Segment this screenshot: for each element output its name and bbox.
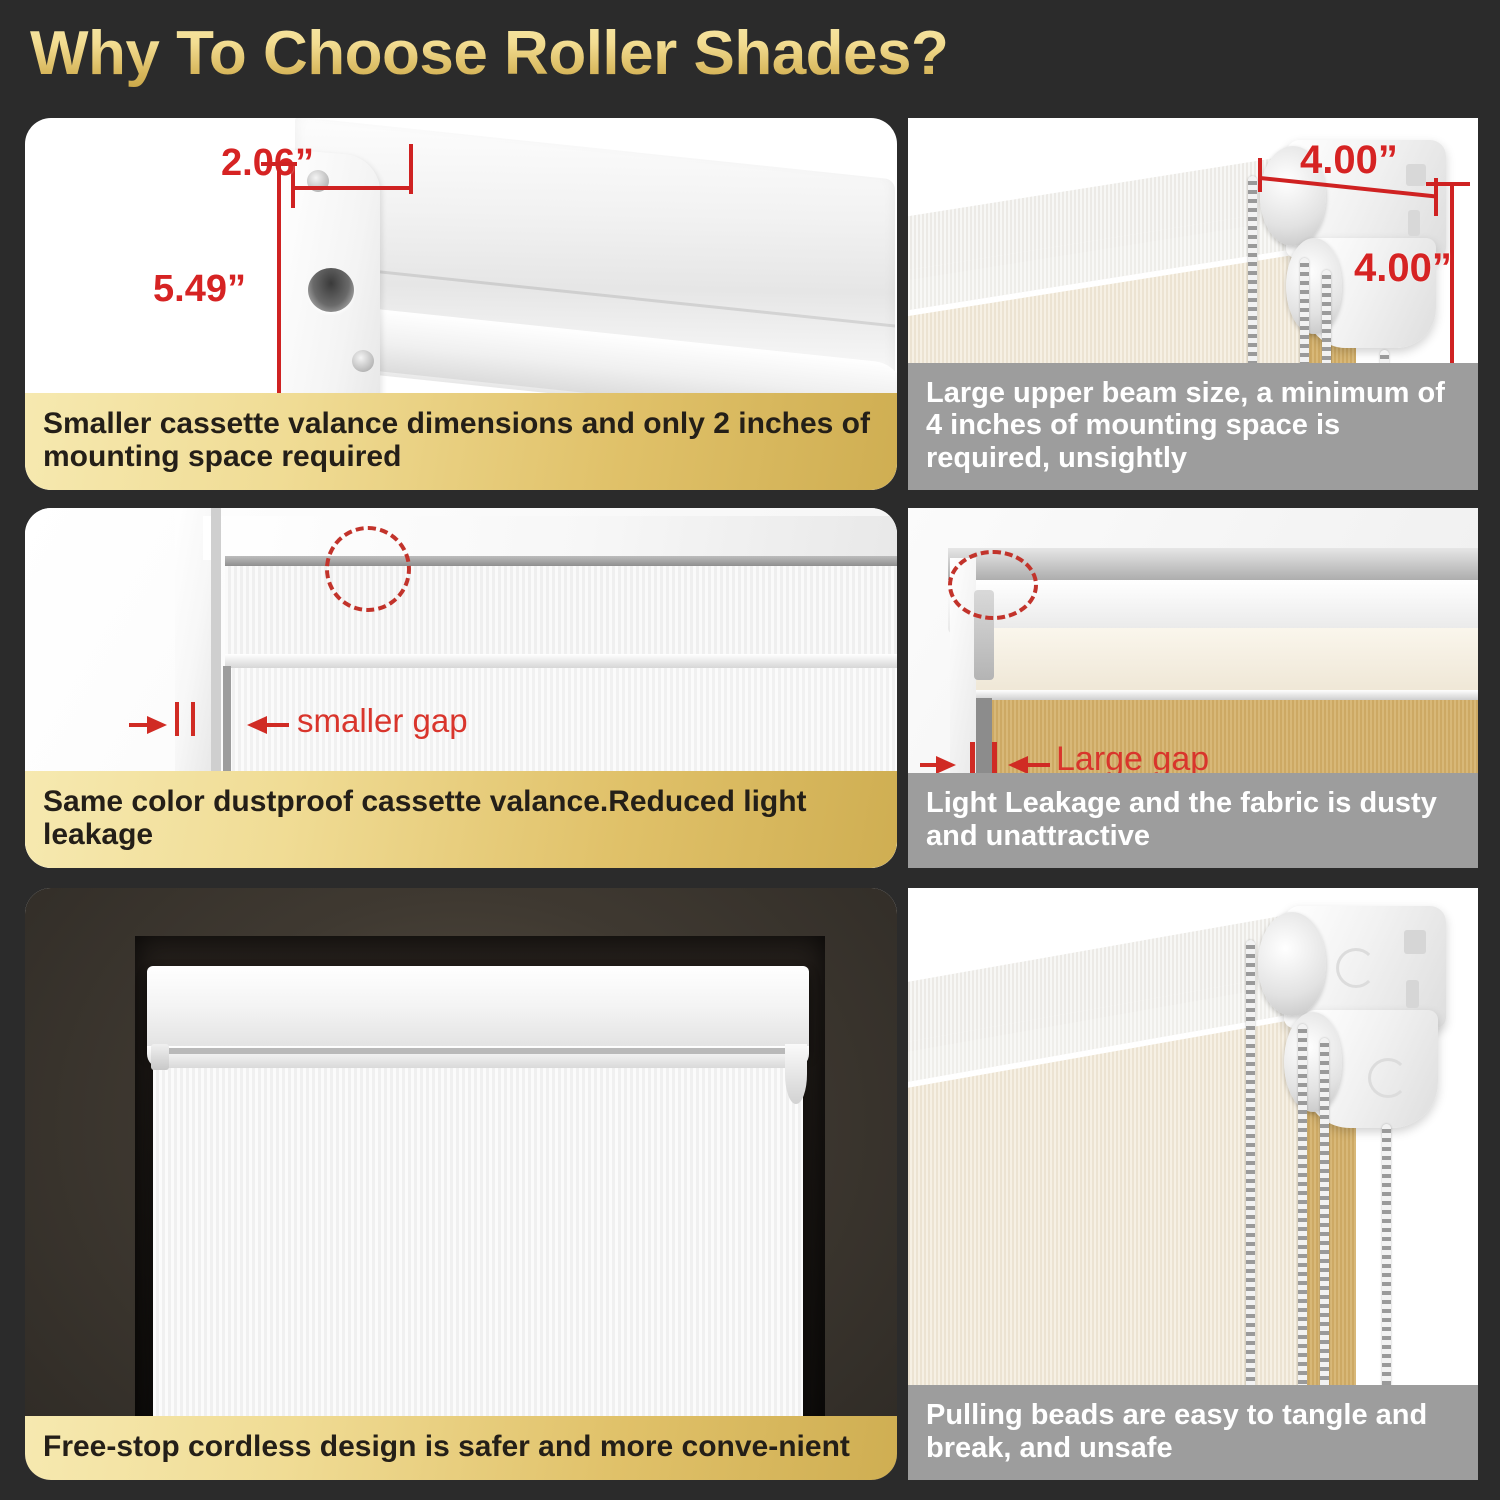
beige-valance-face bbox=[956, 628, 1478, 692]
gap-arrow-left-icon bbox=[247, 716, 267, 734]
roller-end-cap-lower-icon bbox=[1284, 1012, 1342, 1112]
bracket-slot-icon bbox=[1408, 210, 1420, 236]
caption-top-right: Large upper beam size, a minimum of 4 in… bbox=[908, 363, 1478, 490]
bracket-slot-icon bbox=[1406, 164, 1426, 186]
panel-bottom-left: Free-stop cordless design is safer and m… bbox=[25, 888, 897, 1480]
panel-top-left: 2.06” 5.49” Smaller cassette valance dim… bbox=[25, 118, 897, 490]
cassette-valance bbox=[147, 966, 809, 1054]
roller-end-cap-icon bbox=[1258, 912, 1326, 1016]
page-title: Why To Choose Roller Shades? bbox=[30, 18, 948, 89]
gap-arrow-tail bbox=[267, 723, 289, 727]
panel-middle-left: smaller gap Same color dustproof cassett… bbox=[25, 508, 897, 868]
caption-middle-left: Same color dustproof cassette valance.Re… bbox=[25, 771, 897, 868]
dim-height-tick-top bbox=[261, 162, 297, 166]
valance-end-left bbox=[151, 1044, 169, 1070]
cordless-window-photo bbox=[25, 888, 897, 1480]
gap-arrow-tail bbox=[129, 723, 151, 727]
highlight-circle bbox=[948, 550, 1038, 620]
valance-end-right bbox=[785, 1044, 807, 1104]
panel-bottom-right: Pulling beads are easy to tangle and bre… bbox=[908, 888, 1478, 1480]
dim-height-tick-top bbox=[1426, 182, 1470, 186]
gap-arrow-left-icon bbox=[1008, 756, 1028, 774]
dim-width-tick-right bbox=[409, 144, 413, 194]
cassette-bottom-lip bbox=[225, 654, 897, 668]
gap-arrow-tail bbox=[1028, 763, 1050, 767]
roller-end-cap-lower-icon bbox=[1286, 238, 1342, 334]
dim-width-tick-left bbox=[1258, 158, 1262, 192]
gap-tick bbox=[970, 742, 975, 776]
screw-icon bbox=[352, 350, 374, 372]
valance-seam bbox=[155, 1048, 801, 1054]
gap-tick bbox=[191, 702, 195, 736]
rotation-arrow-icon bbox=[1336, 948, 1376, 988]
window-frame-top bbox=[203, 516, 897, 560]
bead-chain bbox=[1246, 940, 1255, 1450]
gap-tick bbox=[175, 702, 179, 736]
caption-top-left: Smaller cassette valance dimensions and … bbox=[25, 393, 897, 490]
gap-tick bbox=[992, 742, 997, 776]
rotation-arrow-icon bbox=[1368, 1058, 1408, 1098]
dim-width-label: 4.00” bbox=[1300, 138, 1398, 183]
highlight-circle bbox=[325, 526, 411, 612]
dim-height-label: 5.49” bbox=[153, 268, 246, 311]
bracket-slot-icon bbox=[1404, 930, 1426, 954]
caption-bottom-left: Free-stop cordless design is safer and m… bbox=[25, 1416, 897, 1480]
dim-width-line bbox=[293, 186, 413, 190]
cord-opening-icon bbox=[308, 268, 354, 312]
panel-top-right: 4.00” 4.00” Large upper beam size, a min… bbox=[908, 118, 1478, 490]
frame-shadow-line bbox=[211, 508, 221, 788]
gap-arrow-tail bbox=[920, 763, 940, 767]
valance-lip bbox=[956, 690, 1478, 700]
panel-middle-right: Large gap Light Leakage and the fabric i… bbox=[908, 508, 1478, 868]
caption-middle-right: Light Leakage and the fabric is dusty an… bbox=[908, 773, 1478, 868]
bracket-slot-icon bbox=[1406, 980, 1419, 1008]
dim-height-label: 4.00” bbox=[1354, 246, 1452, 291]
caption-bottom-right: Pulling beads are easy to tangle and bre… bbox=[908, 1385, 1478, 1480]
gap-label: smaller gap bbox=[297, 702, 468, 740]
